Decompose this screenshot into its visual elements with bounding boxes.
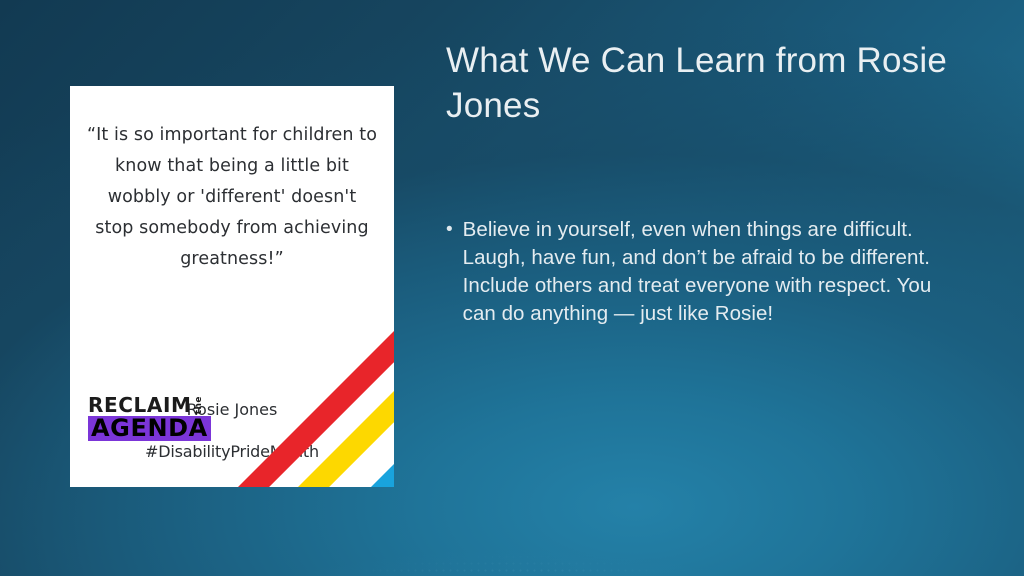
presentation-slide: “It is so important for children to know… bbox=[0, 0, 1024, 576]
logo-word-reclaim: RECLAIM bbox=[88, 395, 192, 415]
reclaim-the-agenda-logo: RECLAIM the AGENDA bbox=[88, 395, 211, 441]
logo-word-agenda: AGENDA bbox=[88, 416, 211, 441]
logo-top-row: RECLAIM the bbox=[88, 395, 204, 415]
quote-card-image[interactable]: “It is so important for children to know… bbox=[70, 86, 394, 487]
slide-body-text: Believe in yourself, even when things ar… bbox=[463, 216, 956, 328]
logo-word-the: the bbox=[195, 396, 204, 414]
quote-text: “It is so important for children to know… bbox=[70, 120, 394, 275]
slide-title: What We Can Learn from Rosie Jones bbox=[446, 38, 966, 128]
slide-body-bullet-list: • Believe in yourself, even when things … bbox=[446, 216, 956, 328]
quote-hashtag: #DisabilityPrideMonth bbox=[70, 442, 394, 461]
bullet-point-icon: • bbox=[446, 216, 453, 328]
background-dot-pattern bbox=[132, 476, 892, 576]
